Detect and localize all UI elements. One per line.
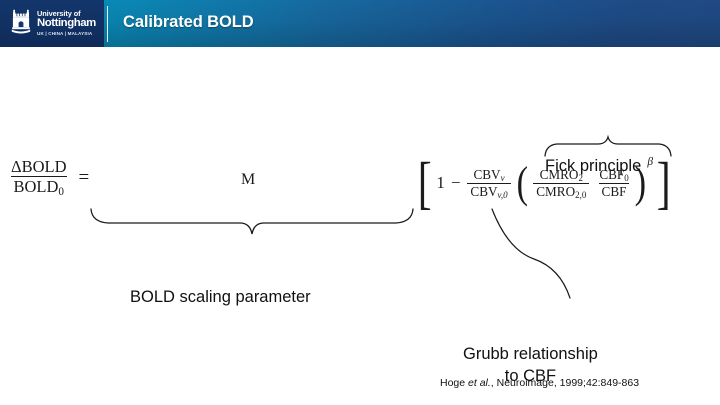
annotation-fick-principle: Fick principle <box>545 157 641 176</box>
slide-header-banner: University of Nottingham UK | CHINA | MA… <box>0 0 720 47</box>
castle-tower-icon <box>11 9 31 36</box>
cbv-numerator: CBVv <box>470 168 507 183</box>
page-title: Calibrated BOLD <box>123 13 254 32</box>
lhs-denominator: BOLD0 <box>11 176 68 196</box>
wordmark-campuses: UK | CHINA | MALAYSIA <box>37 32 101 37</box>
cmro2-denominator: CMRO2,0 <box>533 183 589 199</box>
cbv-ratio-fraction: CBVv CBVv,0 <box>467 168 510 199</box>
right-square-bracket: ] <box>657 160 671 205</box>
citation-etal: et al. <box>468 377 491 389</box>
citation-rest: , Neuroimage, 1999;42:849-863 <box>491 377 639 389</box>
equals-sign: = <box>79 168 90 187</box>
grubb-line-1: Grubb relationship <box>463 345 598 363</box>
left-square-bracket: [ <box>418 160 432 205</box>
wordmark-line-nottingham: Nottingham <box>37 18 101 29</box>
constant-one: 1 <box>436 173 445 193</box>
cbv-denominator: CBVv,0 <box>467 183 510 199</box>
cbf-denominator: CBF <box>599 183 630 199</box>
header-vertical-divider <box>107 6 108 42</box>
beta-exponent: β <box>647 156 653 168</box>
annotation-bold-scaling-parameter: BOLD scaling parameter <box>130 288 311 307</box>
delta-bold-over-bold-zero-fraction: ΔBOLD BOLD0 <box>8 158 70 196</box>
university-wordmark: University of Nottingham UK | CHINA | MA… <box>37 10 101 36</box>
minus-sign: − <box>451 173 461 193</box>
m-scaling-parameter-term: M <box>241 171 255 189</box>
university-logo-block: University of Nottingham UK | CHINA | MA… <box>0 0 104 47</box>
citation-reference: Hoge et al., Neuroimage, 1999;42:849-863 <box>440 377 639 389</box>
slide-body: ΔBOLD BOLD0 = M [ 1 − CBVv CBVv,0 ( CMRO… <box>0 47 720 405</box>
left-parenthesis: ( <box>516 165 527 200</box>
equation-left-hand-side: ΔBOLD BOLD0 = <box>8 158 89 196</box>
citation-author: Hoge <box>440 377 468 389</box>
lhs-numerator: ΔBOLD <box>8 158 70 176</box>
